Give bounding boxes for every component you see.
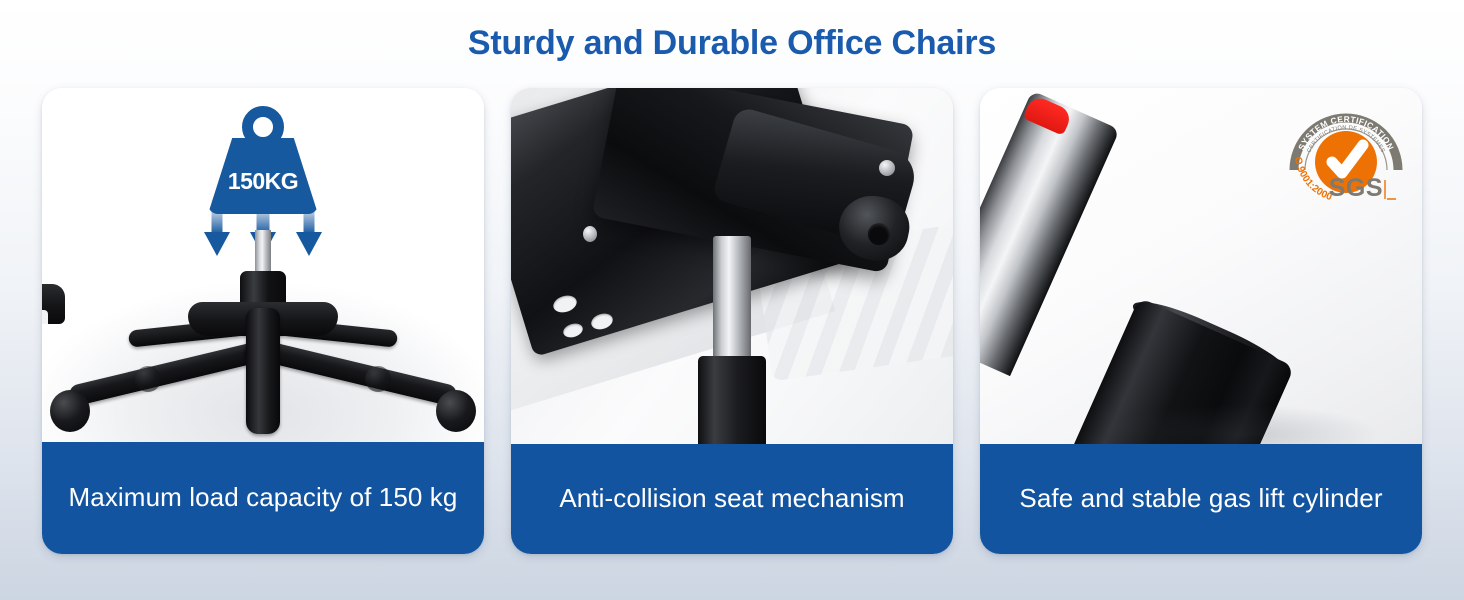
weight-badge-label: 150KG [204, 168, 322, 195]
mount-screw [879, 160, 895, 176]
caster-back-right [365, 366, 391, 392]
chrome-column [713, 236, 751, 366]
caption-text: Anti-collision seat mechanism [559, 482, 904, 515]
chair-base-illustration [42, 284, 484, 442]
caption-text: Safe and stable gas lift cylinder [1019, 482, 1382, 515]
badge-orange-tick [1385, 180, 1396, 199]
page-title: Sturdy and Durable Office Chairs [468, 24, 996, 63]
sgs-certification-badge: SYSTEM CERTIFICATION CERTIFICATION DE SY… [1284, 100, 1408, 204]
caster-back-left [135, 366, 161, 392]
card-caption-max-load: Maximum load capacity of 150 kg [42, 442, 484, 554]
card-caption-gas-lift: Safe and stable gas lift cylinder [980, 444, 1422, 554]
caption-text: Maximum load capacity of 150 kg [69, 481, 458, 514]
feature-card-gas-lift[interactable]: SYSTEM CERTIFICATION CERTIFICATION DE SY… [980, 88, 1422, 554]
promo-banner: Sturdy and Durable Office Chairs 150KG [0, 0, 1464, 600]
chair-base-photo: 150KG [42, 88, 484, 442]
column-sleeve [698, 356, 766, 444]
cylinder-chrome-shaft [980, 90, 1120, 376]
mount-screw [583, 226, 597, 242]
badge-brand-text: SGS [1329, 174, 1383, 202]
caster-center [42, 284, 65, 324]
feature-card-seat-mechanism[interactable]: Anti-collision seat mechanism [511, 88, 953, 554]
banner-header: Sturdy and Durable Office Chairs [0, 0, 1464, 86]
card-caption-seat-mechanism: Anti-collision seat mechanism [511, 444, 953, 554]
feature-card-row: 150KG [42, 88, 1422, 556]
arrow-down-icon [204, 196, 230, 258]
caster-right [436, 390, 476, 432]
caster-left [50, 390, 90, 432]
feature-card-max-load[interactable]: 150KG [42, 88, 484, 554]
base-leg-center [246, 308, 280, 434]
gas-lift-photo: SYSTEM CERTIFICATION CERTIFICATION DE SY… [980, 88, 1422, 444]
arrow-down-icon [296, 196, 322, 258]
seat-mechanism-photo [511, 88, 953, 444]
